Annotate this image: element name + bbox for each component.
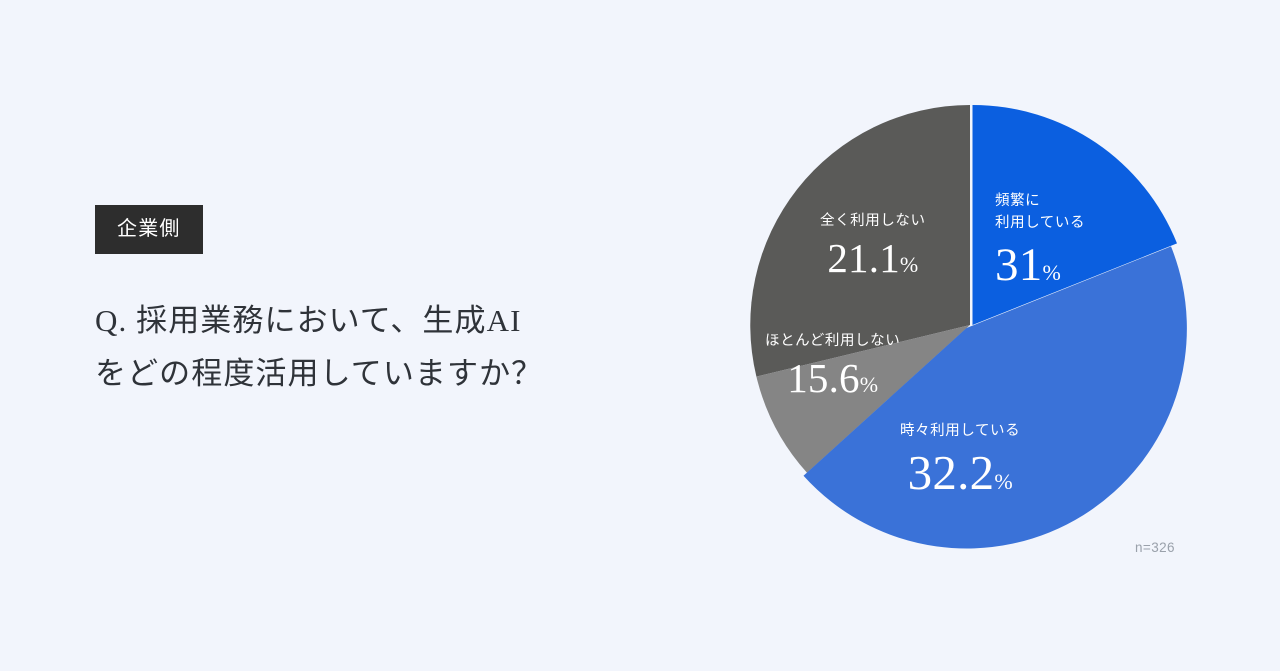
audience-badge: 企業側 xyxy=(95,205,203,254)
question-line-1: Q. 採用業務において、生成AI xyxy=(95,294,695,347)
slide-canvas: 企業側 Q. 採用業務において、生成AI をどの程度活用していますか？ 頻繁に xyxy=(0,0,1280,671)
question-line-2: をどの程度活用していますか？ xyxy=(95,347,695,400)
left-text-panel: 企業側 Q. 採用業務において、生成AI をどの程度活用していますか？ xyxy=(95,205,695,401)
sample-size-note: n=326 xyxy=(1135,540,1175,555)
pie-chart: 頻繁に 利用している 31% 時々利用している 32.2% ほとんど利用しない … xyxy=(735,90,1205,580)
question-text: Q. 採用業務において、生成AI をどの程度活用していますか？ xyxy=(95,294,695,401)
pie-chart-svg xyxy=(735,90,1205,580)
